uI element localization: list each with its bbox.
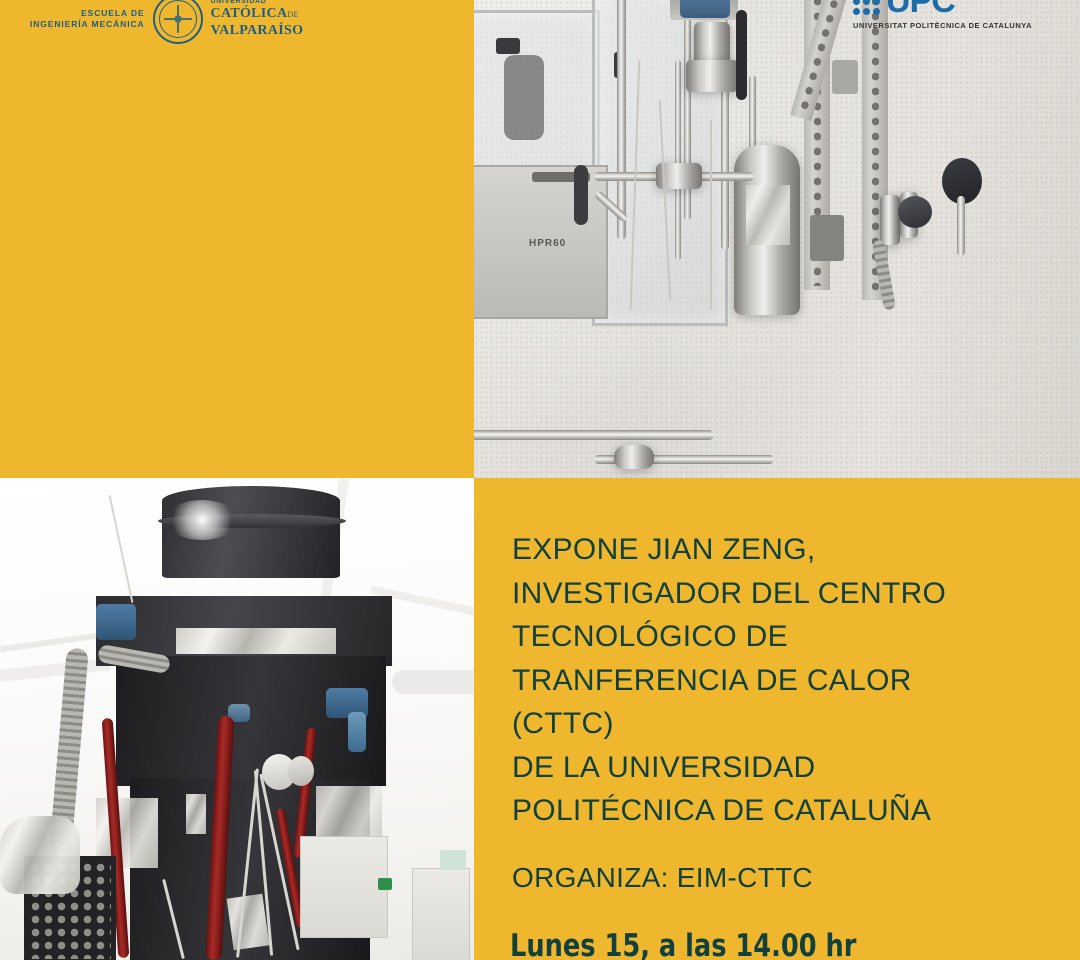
speaker-line-4: TRANFERENCIA DE CALOR (512, 659, 1052, 703)
photo-valve-flange (686, 60, 738, 92)
upc-dots-icon (853, 0, 880, 15)
photo-gauge-stem (880, 195, 900, 245)
reactor-green-panel (440, 850, 466, 870)
reactor-blue-sensor (96, 604, 136, 640)
photo-lower-coupling (614, 445, 654, 469)
speaker-line-6: DE LA UNIVERSIDAD (512, 746, 1052, 790)
laboratory-equipment-photo: HPR60 (474, 0, 1080, 478)
photo-vertical-pipe (617, 0, 626, 240)
speaker-line-7: POLITÉCNICA DE CATALUÑA (512, 789, 1052, 833)
reactor-exit-sign-icon (378, 878, 392, 890)
ucv-line-catolica: CATÓLICADE (211, 6, 304, 23)
photo-dark-shape (504, 55, 544, 140)
organizer-line: ORGANIZA: EIM-CTTC (512, 862, 813, 894)
photo-strut-bracket (810, 215, 844, 261)
reactor-white-bulb-2 (288, 756, 314, 786)
photo-black-actuator (736, 10, 747, 100)
reactor-foil-tag (186, 794, 206, 834)
reactor-blue-sensor-stem (348, 712, 366, 752)
reactor-insulation-bundle (0, 816, 80, 894)
ucv-school-line2: INGENIERÍA MECÁNICA (30, 19, 145, 30)
reactor-foil-wrap (176, 628, 336, 654)
speaker-line-3: TECNOLÓGICO DE (512, 615, 1052, 659)
industrial-reactor-photo (0, 478, 474, 960)
speaker-line-2: INVESTIGADOR DEL CENTRO (512, 572, 1052, 616)
photo-gauge-stem-3 (957, 196, 965, 256)
reactor-background-cabinet (412, 868, 470, 960)
poster-canvas: ESCUELA DE INGENIERÍA MECÁNICA UNIVERSID… (0, 0, 1080, 960)
reactor-top-glare (166, 500, 238, 540)
speaker-description: EXPONE JIAN ZENG, INVESTIGADOR DEL CENTR… (512, 528, 1052, 833)
ucv-seal-icon (153, 0, 203, 44)
photo-panel-handle (574, 165, 588, 225)
photo-vertical-rod (675, 60, 681, 260)
reactor-foil-tag-2 (227, 894, 270, 951)
photo-lower-pipe (474, 430, 714, 440)
ucv-logo: ESCUELA DE INGENIERÍA MECÁNICA UNIVERSID… (30, 0, 303, 44)
photo-dark-fitting (496, 38, 520, 54)
upc-wordmark: UPC (886, 0, 955, 18)
ucv-de-word: DE (287, 10, 298, 19)
photo-blue-valve (680, 0, 730, 18)
upc-logo-row: UPC (853, 0, 1032, 18)
photo-wire-3 (710, 120, 712, 310)
ucv-line-valparaiso: VALPARAÍSO (211, 23, 304, 40)
photo-pressure-gauge (898, 196, 932, 228)
photo-tank-label (746, 185, 790, 245)
reactor-side-cabinet (300, 836, 388, 938)
speaker-line-5: (CTTC) (512, 702, 1052, 746)
reactor-mid-box (116, 656, 386, 786)
upc-logo: UPC UNIVERSITAT POLITÈCNICA DE CATALUNYA (853, 0, 1032, 30)
ucv-catolica-word: CATÓLICA (211, 6, 288, 21)
photo-vertical-rod-2 (721, 80, 729, 250)
ucv-school-line1: ESCUELA DE (30, 8, 145, 19)
photo-panel-label: HPR60 (529, 238, 566, 249)
event-time: Lunes 15, a las 14.00 hr (510, 928, 856, 960)
reactor-duct (392, 670, 474, 694)
photo-strut-clamp (832, 60, 858, 94)
header-text-panel: ESCUELA DE INGENIERÍA MECÁNICA UNIVERSID… (0, 0, 474, 478)
ucv-logo-school-text: ESCUELA DE INGENIERÍA MECÁNICA (30, 8, 145, 31)
upc-subtitle: UNIVERSITAT POLITÈCNICA DE CATALUNYA (853, 21, 1032, 30)
ucv-logo-university-text: UNIVERSIDAD CATÓLICADE VALPARAÍSO (211, 0, 304, 40)
speaker-line-1: EXPONE JIAN ZENG, (512, 528, 1052, 572)
